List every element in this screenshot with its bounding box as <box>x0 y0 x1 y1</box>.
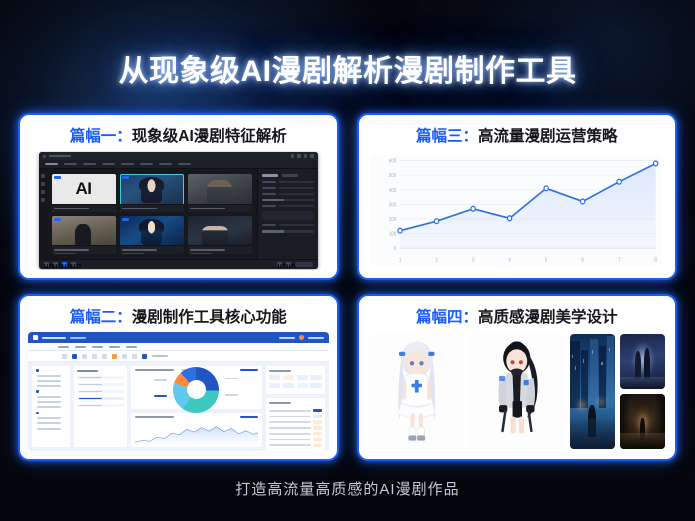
donut-legend-label <box>154 395 167 397</box>
chart-data-point[interactable] <box>507 216 511 221</box>
art-scene-two-figures[interactable] <box>620 334 665 389</box>
toolbar-icon-primary[interactable] <box>72 354 77 359</box>
figure-silhouette <box>644 348 650 379</box>
properties-tabs[interactable] <box>262 174 314 177</box>
status-icon[interactable] <box>44 262 49 267</box>
city-window <box>583 359 584 362</box>
donut-legend-label <box>154 379 167 381</box>
status-icon[interactable] <box>53 262 58 267</box>
toolbar-icon[interactable] <box>102 354 107 359</box>
dashboard-right-column <box>266 366 325 447</box>
traffic-line-chart: 010020030040050060012345678 <box>367 151 668 270</box>
table-row[interactable] <box>269 438 322 441</box>
menu-item[interactable] <box>58 346 69 348</box>
editor-tab[interactable] <box>64 163 77 166</box>
quick-actions-panel <box>266 366 325 394</box>
thumbnail-item[interactable] <box>120 174 184 212</box>
records-table-title <box>269 402 291 404</box>
editor-tab[interactable] <box>159 163 172 166</box>
dashboard-topbar-actions[interactable] <box>279 337 295 339</box>
donut-legend-label <box>225 378 238 380</box>
chart-x-tick-label: 1 <box>398 257 401 263</box>
editor-window-control[interactable] <box>291 154 295 158</box>
city-window <box>609 348 610 351</box>
editor-tab[interactable] <box>178 163 191 166</box>
editor-action-button[interactable] <box>295 262 313 267</box>
chart-data-point[interactable] <box>543 186 547 191</box>
art-gallery <box>367 332 668 451</box>
toolbar-icon[interactable] <box>62 354 67 359</box>
art-scene-corridor[interactable] <box>620 394 665 449</box>
city-window <box>601 362 602 365</box>
card-four-index: 篇幅四： <box>416 309 478 326</box>
dashboard-menubar[interactable] <box>28 343 329 351</box>
property-label <box>262 181 276 183</box>
art-scene-city-street[interactable] <box>570 334 615 449</box>
table-row[interactable] <box>269 420 322 423</box>
quick-action-icon[interactable] <box>297 383 308 388</box>
card-one-body: AI <box>28 151 329 270</box>
toolbar-icon[interactable] <box>92 354 97 359</box>
status-badge <box>313 432 322 435</box>
editor-statusbar <box>39 259 318 269</box>
quick-action-icon[interactable] <box>283 383 294 388</box>
city-building <box>590 339 598 408</box>
rail-icon[interactable] <box>41 198 45 202</box>
thumbnail-item[interactable] <box>188 174 252 212</box>
property-row[interactable] <box>262 205 314 207</box>
chart-data-point[interactable] <box>617 179 621 184</box>
city-window <box>575 366 576 369</box>
quick-action-icon[interactable] <box>297 375 308 380</box>
thumb-art-figure <box>141 221 163 244</box>
property-slider[interactable] <box>262 230 314 233</box>
chart-svg: 010020030040050060012345678 <box>371 155 662 266</box>
city-window <box>592 350 593 353</box>
chart-y-tick-label: 200 <box>388 217 396 223</box>
editor-thumbnail-grid: AI <box>47 169 257 259</box>
art-scene-column <box>570 334 666 449</box>
thumbnail-caption <box>120 245 184 253</box>
list-item[interactable] <box>77 376 124 380</box>
sidebar-item[interactable] <box>37 417 61 419</box>
dashboard-user-name[interactable] <box>308 337 324 339</box>
thumb-art-figure <box>202 226 229 245</box>
card-three-body: 010020030040050060012345678 <box>367 151 668 270</box>
dashboard-logo-icon <box>33 335 38 340</box>
editor-window: AI <box>39 152 318 269</box>
status-icon[interactable] <box>277 262 282 267</box>
property-label <box>262 193 276 195</box>
list-item[interactable] <box>77 390 124 394</box>
editor-properties-panel <box>257 169 318 259</box>
dashboard-sidebar[interactable] <box>32 366 70 447</box>
card-two-header: 篇幅二：漫剧制作工具核心功能 <box>20 296 337 332</box>
editor-sidebar-rail[interactable] <box>39 169 47 259</box>
property-label <box>262 205 276 207</box>
status-icon[interactable] <box>71 262 76 267</box>
editor-app-dot <box>43 155 46 158</box>
card-section-two[interactable]: 篇幅二：漫剧制作工具核心功能 <box>18 294 339 461</box>
toolbar-icon[interactable] <box>82 354 87 359</box>
menu-item[interactable] <box>75 346 86 348</box>
thumb-art-figure <box>207 180 233 203</box>
quick-action-icon[interactable] <box>269 383 280 388</box>
property-slider[interactable] <box>262 199 314 202</box>
table-cell <box>269 444 311 446</box>
chart-x-tick-label: 3 <box>471 257 474 263</box>
card-two-title: 漫剧制作工具核心功能 <box>132 309 287 326</box>
editor-titlebar <box>39 152 318 160</box>
property-value[interactable] <box>279 193 314 195</box>
cards-grid: 篇幅一：现象级AI漫剧特征解析 <box>18 113 677 461</box>
footer-note: 打造高流量高质感的AI漫剧作品 <box>0 478 695 499</box>
card-section-four[interactable]: 篇幅四：高质感漫剧美学设计 <box>357 294 678 461</box>
scene-ground <box>620 377 665 389</box>
property-row[interactable] <box>262 224 314 226</box>
editor-tab[interactable] <box>45 163 58 166</box>
list-item[interactable] <box>77 404 124 408</box>
status-icon[interactable] <box>286 262 291 267</box>
video-editor-screenshot: AI <box>28 151 329 270</box>
card-three-header: 篇幅三：高流量漫剧运营策略 <box>359 115 676 151</box>
table-row[interactable] <box>269 444 322 447</box>
dashboard-app-name <box>42 337 66 339</box>
table-row[interactable] <box>269 415 322 418</box>
page-title: 从现象级AI漫剧解析漫剧制作工具 <box>119 46 577 90</box>
dashboard-screenshot <box>28 332 329 451</box>
property-value[interactable] <box>279 187 314 189</box>
area-card-title <box>135 416 174 418</box>
card-two-body <box>28 332 329 451</box>
art-character-white-dress[interactable] <box>369 334 465 449</box>
chart-x-tick-label: 2 <box>435 257 438 263</box>
properties-tab[interactable] <box>282 174 298 177</box>
rail-icon[interactable] <box>41 174 45 178</box>
thumb-art-figure <box>141 179 161 202</box>
card-one-header: 篇幅一：现象级AI漫剧特征解析 <box>20 115 337 151</box>
property-value[interactable] <box>279 205 314 207</box>
editor-window-control[interactable] <box>304 154 308 158</box>
ai-thumb-label: AI <box>76 179 92 199</box>
editor-window-control[interactable] <box>310 154 314 158</box>
table-cell <box>269 433 311 435</box>
area-card-action[interactable] <box>240 416 258 418</box>
chart-x-tick-label: 5 <box>544 257 547 263</box>
property-row[interactable] <box>262 181 314 183</box>
thumbnail-badge <box>122 218 129 221</box>
quick-action-icon[interactable] <box>310 383 321 388</box>
dashboard-main <box>28 362 329 451</box>
list-item[interactable] <box>77 383 124 387</box>
card-three-title: 高流量漫剧运营策略 <box>478 128 618 145</box>
card-one-title: 现象级AI漫剧特征解析 <box>132 128 287 145</box>
editor-app-name <box>49 155 71 158</box>
card-four-header: 篇幅四：高质感漫剧美学设计 <box>359 296 676 332</box>
status-badge <box>313 426 322 429</box>
sidebar-icon[interactable] <box>36 369 39 372</box>
chart-data-point[interactable] <box>434 219 438 224</box>
records-table-panel <box>266 398 325 451</box>
properties-tab[interactable] <box>262 174 278 177</box>
editor-tab[interactable] <box>83 163 96 166</box>
chart-data-point[interactable] <box>653 161 657 166</box>
card-two-index: 篇幅二： <box>70 309 132 326</box>
card-section-three[interactable]: 篇幅三：高流量漫剧运营策略 01002003004005006001234567… <box>357 113 678 280</box>
chart-y-tick-label: 600 <box>388 158 396 164</box>
thumbnail-item[interactable] <box>120 216 184 254</box>
chart-y-tick-label: 100 <box>388 231 396 237</box>
thumbnail-item[interactable] <box>52 216 116 254</box>
toolbar-icon[interactable] <box>132 354 137 359</box>
chart-data-point[interactable] <box>470 206 474 211</box>
property-value[interactable] <box>279 181 314 183</box>
art-scene-stack <box>620 334 665 449</box>
thumbnail-item[interactable]: AI <box>52 174 116 212</box>
status-badge <box>313 444 322 447</box>
city-window <box>572 355 573 358</box>
sidebar-item[interactable] <box>37 428 61 430</box>
chart-y-tick-label: 300 <box>388 202 396 208</box>
thumb-art-figure <box>75 224 92 246</box>
chart-x-tick-label: 6 <box>581 257 584 263</box>
chart-plot-area: 010020030040050060012345678 <box>371 155 662 266</box>
table-row[interactable] <box>269 426 322 429</box>
thumbnail-caption <box>120 204 184 212</box>
list-panel-title <box>77 370 98 372</box>
sidebar-item[interactable] <box>37 380 61 382</box>
thumbnail-badge <box>54 176 61 179</box>
dashboard-toolbar[interactable] <box>28 351 329 362</box>
card-one-index: 篇幅一： <box>70 128 132 145</box>
editor-tab[interactable] <box>140 163 153 166</box>
menu-item[interactable] <box>126 346 137 348</box>
status-badge <box>313 415 322 418</box>
thumbnail-badge <box>122 176 129 179</box>
donut-chart <box>173 367 219 413</box>
menu-item[interactable] <box>92 346 103 348</box>
editor-tab[interactable] <box>102 163 115 166</box>
dashboard-breadcrumb[interactable] <box>70 337 86 339</box>
list-item-selected[interactable] <box>77 397 124 401</box>
editor-main: AI <box>39 169 318 259</box>
donut-legend-label <box>225 394 238 396</box>
table-cell <box>269 410 311 412</box>
thumbnail-caption <box>52 204 116 212</box>
thumbnail-caption <box>52 245 116 253</box>
sidebar-item[interactable] <box>37 401 61 403</box>
quick-action-icon[interactable] <box>310 375 321 380</box>
toolbar-label <box>152 355 168 357</box>
title-container: 从现象级AI漫剧解析漫剧制作工具 <box>0 46 695 90</box>
table-cell <box>269 439 311 441</box>
corridor-floor <box>620 433 665 450</box>
quick-actions-grid[interactable] <box>269 375 322 388</box>
area-chart-card <box>131 413 262 447</box>
chart-x-tick-label: 7 <box>617 257 620 263</box>
rail-icon[interactable] <box>41 182 45 186</box>
card-four-body <box>367 332 668 451</box>
sidebar-item[interactable] <box>37 375 61 377</box>
chart-x-tick-label: 4 <box>508 257 511 263</box>
street-light-glow <box>578 401 585 410</box>
status-badge <box>313 420 322 423</box>
chart-y-tick-label: 0 <box>393 246 396 252</box>
editor-window-control[interactable] <box>297 154 301 158</box>
rail-icon[interactable] <box>41 190 45 194</box>
art-character-grey-jacket[interactable] <box>469 334 565 449</box>
avatar[interactable] <box>299 335 304 340</box>
toolbar-icon-alert[interactable] <box>112 354 117 359</box>
thumbnail-item[interactable] <box>188 216 252 254</box>
chart-data-point[interactable] <box>580 199 584 204</box>
card-three-index: 篇幅三： <box>416 128 478 145</box>
thumbnail-caption <box>188 245 252 253</box>
status-badge <box>313 438 322 441</box>
table-row[interactable] <box>269 432 322 435</box>
sidebar-item[interactable] <box>37 406 61 408</box>
chart-y-tick-label: 500 <box>388 173 396 179</box>
property-value[interactable] <box>279 224 314 226</box>
property-preview-block <box>262 211 314 220</box>
editor-tab[interactable] <box>121 163 134 166</box>
quick-action-icon[interactable] <box>269 375 280 380</box>
dashboard-center-column <box>131 366 262 447</box>
status-icon-active[interactable] <box>62 262 67 267</box>
area-chart-svg <box>135 422 258 445</box>
status-badge <box>313 409 322 412</box>
sidebar-icon[interactable] <box>36 390 39 393</box>
property-row[interactable] <box>262 193 314 195</box>
donut-chart-card <box>131 366 262 409</box>
donut-card-title <box>135 369 174 371</box>
chart-y-tick-label: 400 <box>388 188 396 194</box>
table-cell <box>269 421 311 423</box>
city-building <box>570 341 580 408</box>
toolbar-icon-primary[interactable] <box>142 354 147 359</box>
figure-silhouette <box>635 351 641 380</box>
table-cell <box>269 427 311 429</box>
street-ground <box>570 419 615 449</box>
card-four-title: 高质感漫剧美学设计 <box>478 309 618 326</box>
chart-x-tick-label: 8 <box>654 257 657 263</box>
table-cell <box>269 416 311 418</box>
quick-action-icon[interactable] <box>283 375 294 380</box>
sidebar-item[interactable] <box>37 396 61 398</box>
sidebar-icon[interactable] <box>36 412 39 415</box>
property-row[interactable] <box>262 187 314 189</box>
chart-data-point[interactable] <box>397 228 401 233</box>
quick-actions-title <box>269 370 291 372</box>
card-section-one[interactable]: 篇幅一：现象级AI漫剧特征解析 <box>18 113 339 280</box>
thumbnail-caption <box>188 204 252 212</box>
area-chart-fill <box>135 427 258 445</box>
dashboard-list-panel[interactable] <box>74 366 127 447</box>
dashboard-topbar <box>28 332 329 343</box>
menu-item[interactable] <box>109 346 120 348</box>
sidebar-item[interactable] <box>37 385 61 387</box>
sidebar-item[interactable] <box>37 422 61 424</box>
thumbnail-badge <box>54 218 61 221</box>
donut-card-action[interactable] <box>240 369 258 371</box>
table-row[interactable] <box>269 409 322 412</box>
property-label <box>262 224 276 226</box>
editor-tabbar[interactable] <box>39 160 318 169</box>
property-label <box>262 187 276 189</box>
toolbar-icon[interactable] <box>122 354 127 359</box>
